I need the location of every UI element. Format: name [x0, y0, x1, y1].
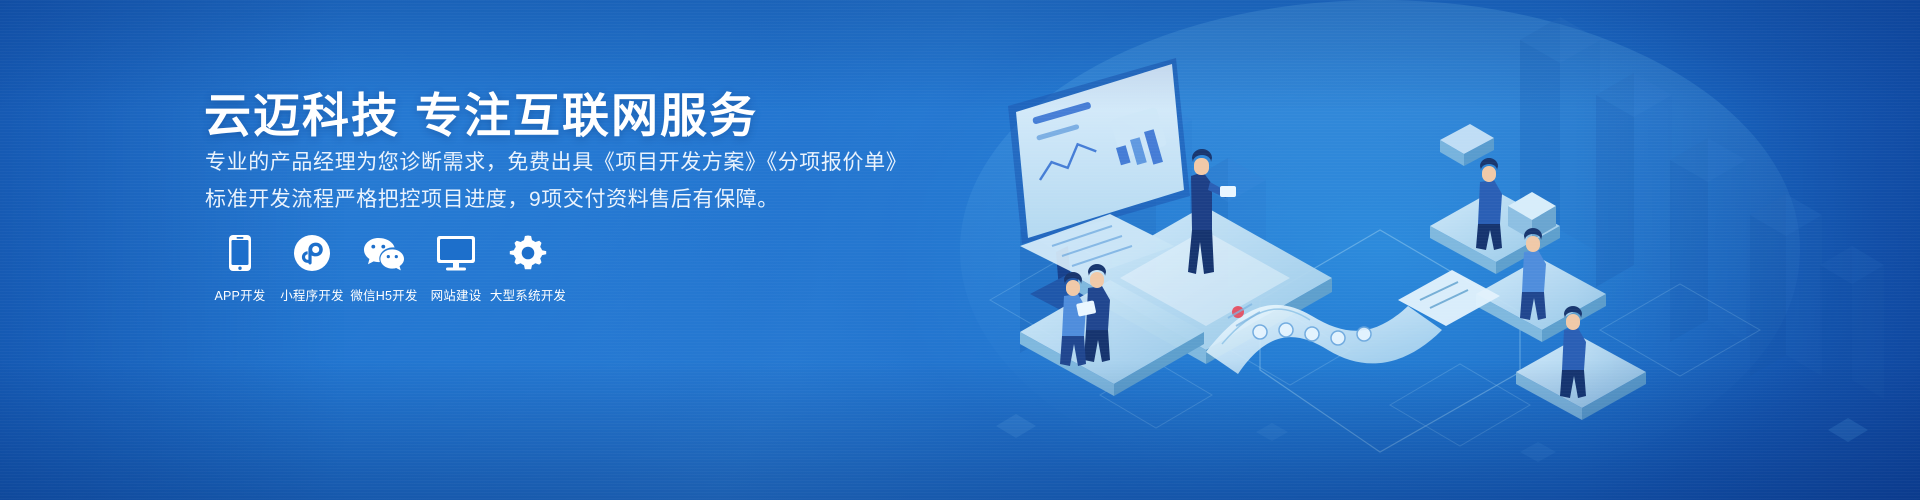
- service-label-mini-program: 小程序开发: [280, 285, 344, 304]
- service-item-large-system[interactable]: 大型系统开发: [492, 232, 564, 304]
- wechat-icon: [362, 232, 406, 274]
- mini-program-icon: [293, 232, 331, 274]
- phone-icon: [228, 232, 252, 274]
- hero-illustration: [960, 0, 1920, 500]
- hero-content: 云迈科技 专注互联网服务 专业的产品经理为您诊断需求，免费出具《项目开发方案》《…: [204, 0, 964, 500]
- service-label-website: 网站建设: [431, 285, 482, 304]
- service-item-app[interactable]: APP开发: [204, 232, 276, 304]
- service-item-wechat-h5[interactable]: 微信H5开发: [348, 232, 420, 304]
- service-label-app: APP开发: [214, 285, 265, 304]
- service-item-website[interactable]: 网站建设: [420, 232, 492, 304]
- hero-banner: 云迈科技 专注互联网服务 专业的产品经理为您诊断需求，免费出具《项目开发方案》《…: [0, 0, 1920, 500]
- page-title: 云迈科技 专注互联网服务: [204, 77, 758, 146]
- service-list: APP开发 小程序开发: [204, 232, 564, 304]
- gear-icon: [509, 232, 547, 274]
- subtitle-line-2: 标准开发流程严格把控项目进度，9项交付资料售后有保障。: [205, 183, 779, 213]
- service-item-mini-program[interactable]: 小程序开发: [276, 232, 348, 304]
- service-label-wechat-h5: 微信H5开发: [350, 285, 417, 304]
- subtitle-line-1: 专业的产品经理为您诊断需求，免费出具《项目开发方案》《分项报价单》: [205, 146, 907, 176]
- service-label-large-system: 大型系统开发: [490, 285, 566, 304]
- monitor-icon: [436, 232, 476, 274]
